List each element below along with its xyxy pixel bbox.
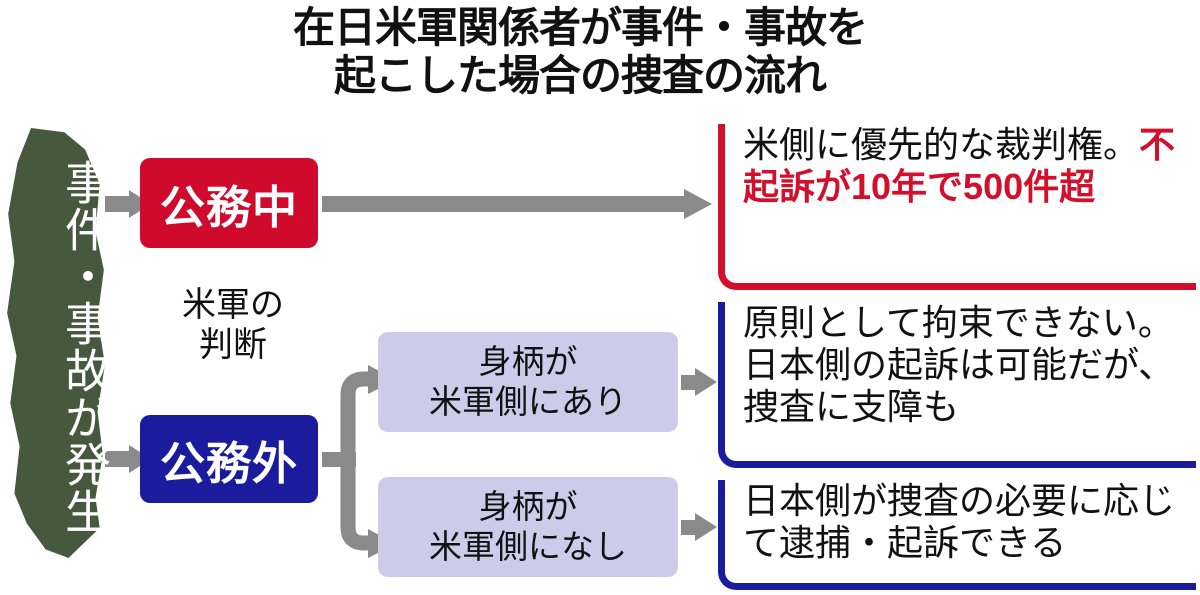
outcome-panel-on-duty: 米側に優先的な裁判権。不起訴が10年で500件超 — [718, 124, 1196, 290]
decision-label-us-military-judgment: 米軍の 判断 — [148, 285, 318, 365]
outcome-on-duty-text: 米側に優先的な裁判権。不起訴が10年で500件超 — [725, 124, 1196, 208]
title-line-2: 起こした場合の捜査の流れ — [180, 52, 980, 100]
source-event-label: 事件・事故が発生 — [4, 152, 108, 542]
outcome-panel-custody-with-us: 原則として拘束できない。日本側の起訴は可能だが、捜査に支障も — [718, 302, 1196, 468]
arrow-custody-without-us-to-outcome — [681, 513, 717, 541]
stage-label-off-duty: 公務外 — [160, 427, 298, 492]
decision-label-line-2: 判断 — [148, 325, 318, 365]
infographic-canvas: 在日米軍関係者が事件・事故を 起こした場合の捜査の流れ — [0, 0, 1200, 595]
outcome-custody-without-us-text: 日本側が捜査の必要に応じて逮捕・起訴できる — [725, 480, 1196, 564]
stage-box-on-duty[interactable]: 公務中 — [140, 158, 318, 248]
outcome-custody-with-us-text: 原則として拘束できない。日本側の起訴は可能だが、捜査に支障も — [725, 302, 1196, 428]
page-title: 在日米軍関係者が事件・事故を 起こした場合の捜査の流れ — [180, 4, 980, 100]
title-line-1: 在日米軍関係者が事件・事故を — [180, 4, 980, 52]
custody-with-us-line-1: 身柄が — [479, 342, 578, 382]
arrow-custody-with-us-to-outcome — [681, 368, 717, 396]
custody-with-us-line-2: 米軍側にあり — [429, 382, 627, 422]
stage-box-off-duty[interactable]: 公務外 — [140, 415, 318, 503]
stage-label-on-duty: 公務中 — [160, 171, 298, 236]
custody-box-without-us-military[interactable]: 身柄が 米軍側になし — [378, 477, 678, 577]
custody-without-us-line-2: 米軍側になし — [429, 527, 627, 567]
outcome-on-duty-plain: 米側に優先的な裁判権。 — [743, 124, 1139, 165]
decision-label-line-1: 米軍の — [148, 285, 318, 325]
outcome-panel-custody-without-us: 日本側が捜査の必要に応じて逮捕・起訴できる — [718, 480, 1196, 590]
custody-without-us-line-1: 身柄が — [479, 487, 578, 527]
arrow-onduty-to-outcome — [322, 189, 712, 219]
custody-box-with-us-military[interactable]: 身柄が 米軍側にあり — [378, 332, 678, 432]
